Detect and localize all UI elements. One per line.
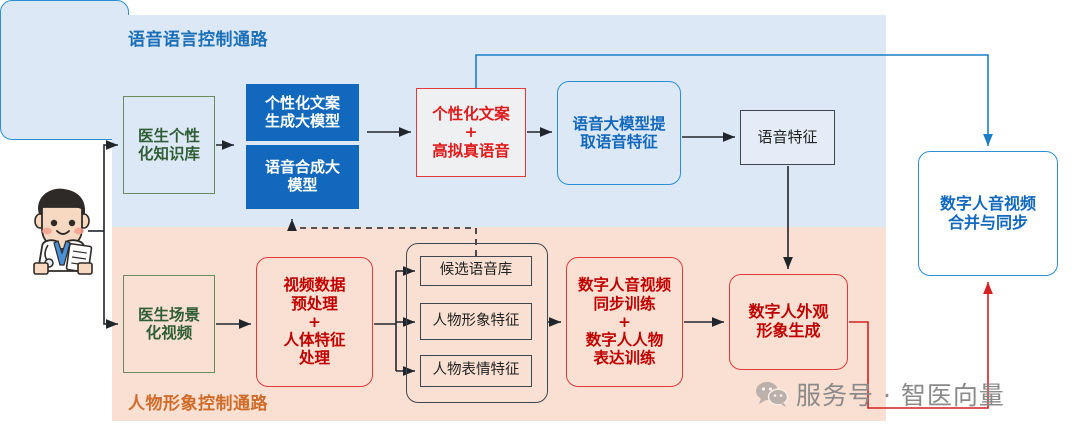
node-av-merge-sync[interactable]: 数字人音视频 合并与同步 [918,151,1058,276]
node-av-merge-sync-line2: 合并与同步 [940,214,1036,233]
watermark-text: 服务号 · 智医向量 [796,376,1005,412]
node-sync-and-expression-training-line2: 同步训练 [578,295,671,313]
node-voice-feature-extraction[interactable]: 语音大模型提 取语音特征 [557,81,681,185]
node-scene-video-line1: 医生场景 [138,306,200,324]
node-candidate-voice-library[interactable]: 候选语音库 [420,256,532,286]
node-av-merge-sync-line1: 数字人音视频 [940,195,1036,214]
node-sync-and-expression-training[interactable]: 数字人音视频 同步训练 + 数字人人物 表达训练 [566,257,683,387]
wechat-icon [755,380,789,408]
node-scene-video-line2: 化视频 [138,324,200,342]
doctor-avatar-icon [18,183,106,278]
node-copy-and-voice-line3: 高拟真语音 [432,142,510,160]
node-knowledge-base[interactable]: 医生个性 化知识库 [123,96,215,194]
node-digital-human-appearance-line1: 数字人外观 [748,303,828,322]
diagram-canvas: 语音语言控制通路 人物形象控制通路 [0,0,1080,443]
node-knowledge-base-line1: 医生个性 [138,127,200,145]
node-copy-and-voice-line2: + [432,123,510,141]
node-figure-appearance-feature-label: 人物形象特征 [433,313,520,330]
node-video-preprocess-line2: 预处理 [283,295,345,313]
node-copy-generation-model-line2: 生成大模型 [265,113,340,131]
node-knowledge-base-line2: 化知识库 [138,145,200,163]
node-video-preprocess-line4: 人体特征 [283,331,345,349]
node-voice-feature-extraction-line2: 取语音特征 [572,133,665,151]
node-tts-model-line1: 语音合成大 [265,159,340,177]
node-candidate-voice-library-label: 候选语音库 [440,262,513,279]
node-copy-and-voice[interactable]: 个性化文案 + 高拟真语音 [416,88,526,177]
node-figure-expression-feature-label: 人物表情特征 [433,362,520,379]
node-sync-and-expression-training-line1: 数字人音视频 [578,276,671,294]
node-video-preprocess[interactable]: 视频数据 预处理 + 人体特征 处理 [256,257,373,387]
node-copy-generation-model-line1: 个性化文案 [265,95,340,113]
node-sync-and-expression-training-line3: + [578,313,671,331]
node-voice-feature-label: 语音特征 [757,129,817,147]
node-figure-appearance-feature[interactable]: 人物形象特征 [420,303,532,340]
node-video-preprocess-line1: 视频数据 [283,276,345,294]
node-digital-human-appearance-line2: 形象生成 [748,322,828,341]
watermark: 服务号 · 智医向量 [755,376,1005,412]
node-voice-feature-extraction-line1: 语音大模型提 [572,115,665,133]
node-voice-feature[interactable]: 语音特征 [740,110,835,165]
node-video-preprocess-line5: 处理 [283,349,345,367]
node-sync-and-expression-training-line5: 表达训练 [578,349,671,367]
node-digital-human-appearance[interactable]: 数字人外观 形象生成 [729,274,848,370]
node-video-preprocess-line3: + [283,313,345,331]
node-figure-expression-feature[interactable]: 人物表情特征 [420,355,532,387]
node-scene-video[interactable]: 医生场景 化视频 [123,275,215,373]
node-tts-model-line2: 模型 [265,177,340,195]
node-tts-model[interactable]: 语音合成大 模型 [246,145,359,209]
node-copy-generation-model[interactable]: 个性化文案 生成大模型 [246,84,359,141]
node-copy-and-voice-line1: 个性化文案 [432,105,510,123]
node-sync-and-expression-training-line4: 数字人人物 [578,331,671,349]
